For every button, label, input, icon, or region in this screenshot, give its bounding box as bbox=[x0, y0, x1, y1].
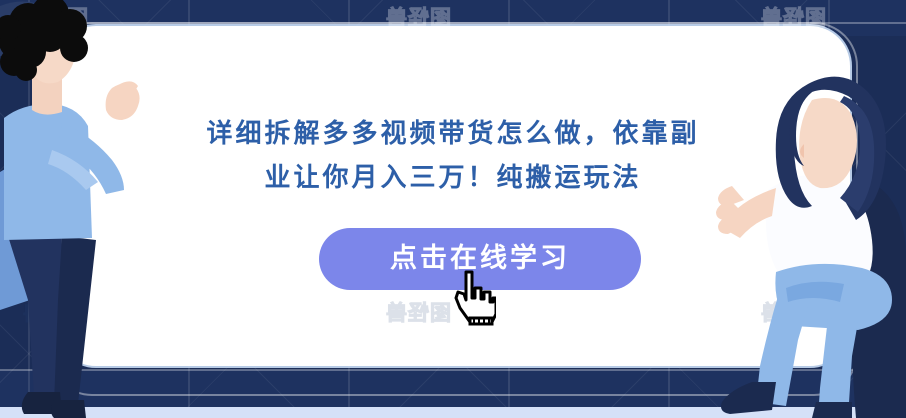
illustration-right-person bbox=[716, 0, 906, 418]
headline-line-2: 业让你月入三万！纯搬运玩法 bbox=[56, 156, 850, 200]
illustration-left-person bbox=[0, 0, 150, 418]
page-title: 详细拆解多多视频带货怎么做，依靠副 业让你月入三万！纯搬运玩法 bbox=[56, 112, 850, 200]
headline-line-1: 详细拆解多多视频带货怎么做，依靠副 bbox=[56, 112, 850, 156]
hand-pointer-cursor bbox=[452, 268, 496, 328]
promo-banner: 图怪兽 图怪兽 图怪兽 图怪兽 图怪兽 图怪兽 bbox=[0, 0, 906, 418]
